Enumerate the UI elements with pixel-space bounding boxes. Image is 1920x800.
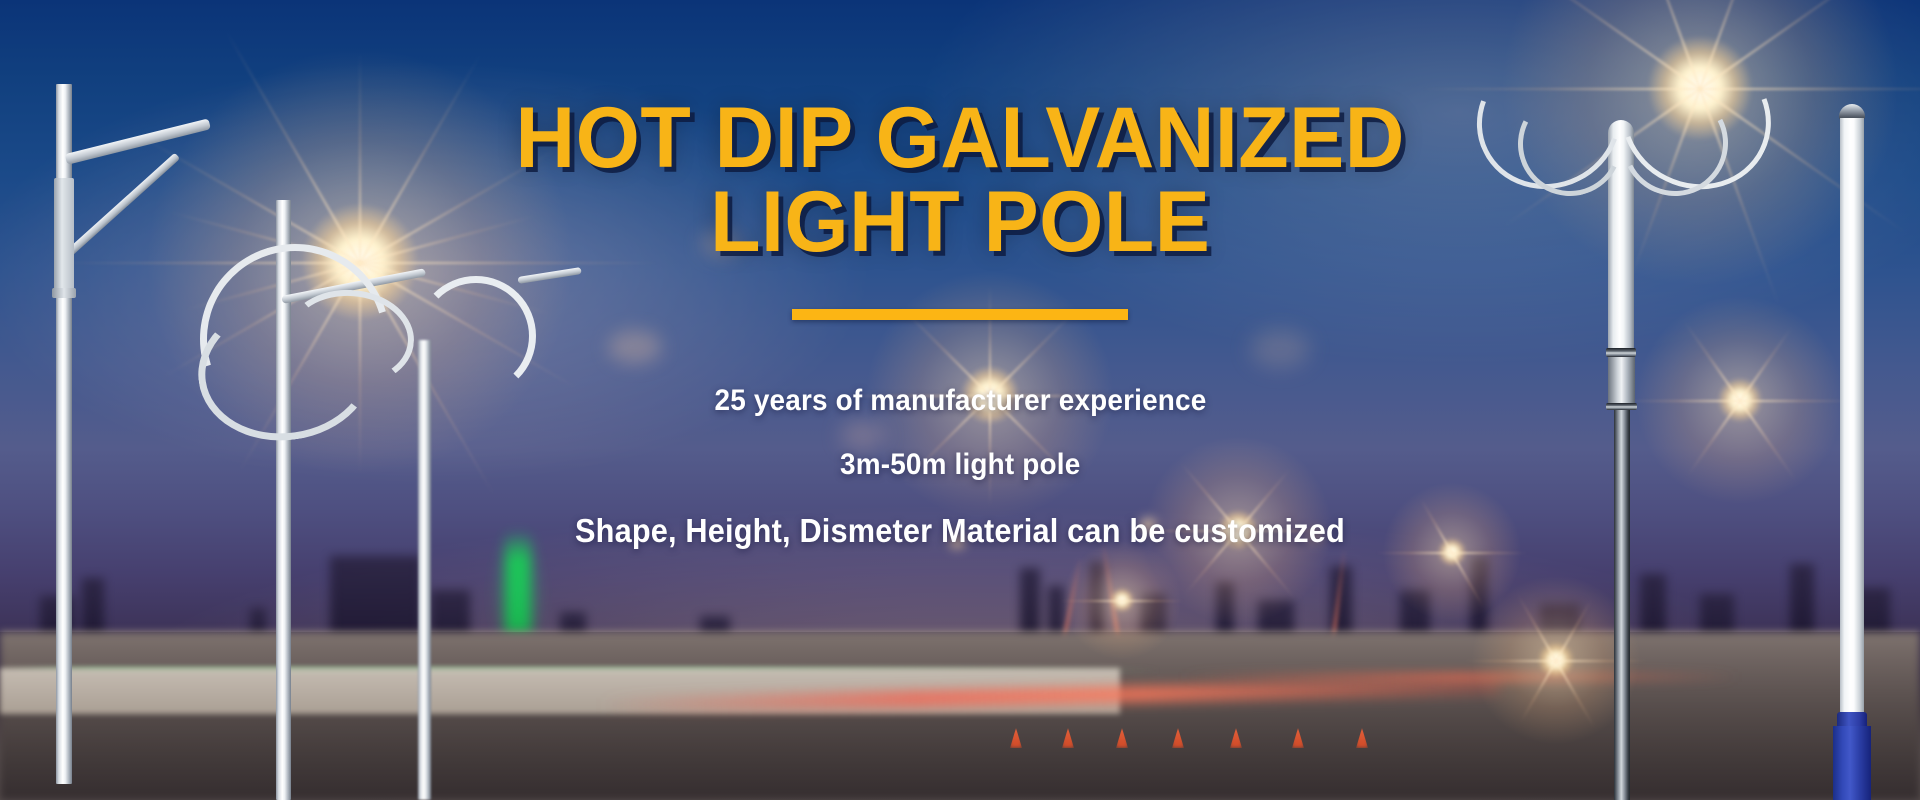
subtitle-line-1: 25 years of manufacturer experience [714, 384, 1206, 418]
headline-line-1: HOT DIP GALVANIZED [515, 90, 1404, 186]
page-title: HOT DIP GALVANIZED LIGHT POLE [515, 96, 1404, 265]
subtitle-line-3: Shape, Height, Dismeter Material can be … [575, 512, 1345, 550]
subtitle-list: 25 years of manufacturer experience 3m-5… [546, 384, 1374, 550]
banner-content: HOT DIP GALVANIZED LIGHT POLE 25 years o… [0, 0, 1920, 800]
hero-banner: HOT DIP GALVANIZED LIGHT POLE 25 years o… [0, 0, 1920, 800]
headline-line-2: LIGHT POLE [515, 180, 1404, 264]
title-divider-bar [792, 309, 1128, 320]
subtitle-line-2: 3m-50m light pole [840, 448, 1080, 482]
